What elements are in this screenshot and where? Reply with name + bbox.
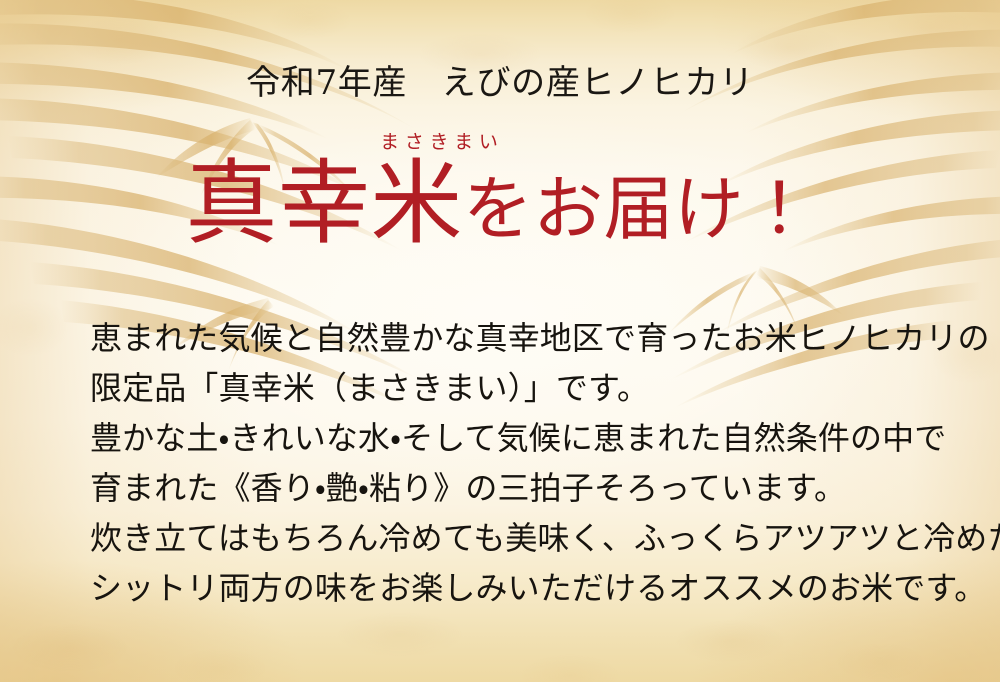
title-tail-otodoke: をお届け！: [463, 168, 815, 250]
title-ruby-furigana: まさきまい: [0, 133, 1000, 152]
body-line: 育まれた《香り・艶・粘り》の三拍子そろっています。: [90, 463, 950, 513]
body-line: 限定品「真幸米（まさきまい）」です。: [90, 363, 950, 413]
body-line: シットリ両方の味をお楽しみいただけるオススメのお米です。: [90, 563, 950, 613]
body-line: 炊き立てはもちろん冷めても美味く、ふっくらアツアツと冷めた: [90, 513, 950, 563]
title-block: まさきまい 真幸米をお届け！: [0, 133, 1000, 250]
body-line: 恵まれた気候と自然豊かな真幸地区で育ったお米ヒノヒカリの: [90, 313, 950, 363]
poster-canvas: 令和7年産 えびの産ヒノヒカリ まさきまい 真幸米をお届け！ 恵まれた気候と自然…: [0, 0, 1000, 682]
body-copy: 恵まれた気候と自然豊かな真幸地区で育ったお米ヒノヒカリの 限定品「真幸米（まさき…: [90, 313, 950, 613]
title-main: 真幸米をお届け！: [0, 158, 1000, 250]
title-kanji-masakimai: 真幸米: [185, 150, 462, 257]
headline-season-origin: 令和7年産 えびの産ヒノヒカリ: [0, 66, 1000, 100]
poster-content: 令和7年産 えびの産ヒノヒカリ まさきまい 真幸米をお届け！ 恵まれた気候と自然…: [0, 0, 1000, 682]
body-line: 豊かな土・きれいな水・そして気候に恵まれた自然条件の中で: [90, 413, 950, 463]
